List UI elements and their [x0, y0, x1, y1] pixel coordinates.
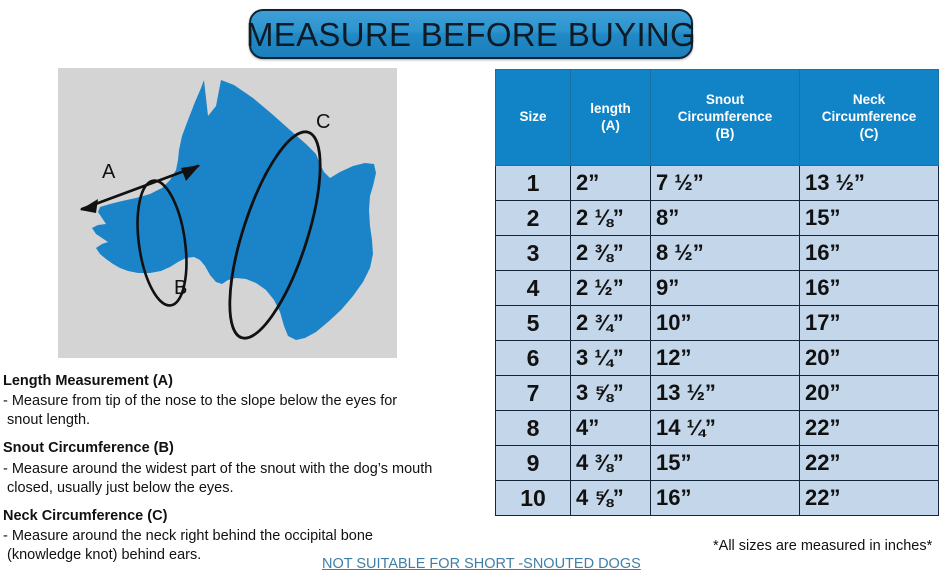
- instruction-group-snout: Snout Circumference (B) - Measure around…: [3, 439, 488, 497]
- dog-head-silhouette: [92, 80, 376, 340]
- cell-neck: 13 ½”: [800, 166, 939, 201]
- cell-neck: 16”: [800, 271, 939, 306]
- cell-size: 5: [496, 306, 571, 341]
- cell-length: 4”: [571, 411, 651, 446]
- cell-size: 10: [496, 481, 571, 516]
- dog-measurement-diagram: A B C: [58, 68, 397, 358]
- table-row: 22 ⅛”8”15”: [496, 201, 939, 236]
- units-note: *All sizes are measured in inches*: [713, 538, 932, 554]
- not-suitable-warning-link[interactable]: NOT SUITABLE FOR SHORT -SNOUTED DOGS: [322, 556, 641, 572]
- marker-c-label: C: [316, 111, 330, 133]
- cell-snout: 8”: [651, 201, 800, 236]
- cell-snout: 15”: [651, 446, 800, 481]
- cell-length: 2”: [571, 166, 651, 201]
- cell-snout: 16”: [651, 481, 800, 516]
- cell-neck: 22”: [800, 446, 939, 481]
- table-row: 12”7 ½”13 ½”: [496, 166, 939, 201]
- cell-neck: 20”: [800, 376, 939, 411]
- instruction-heading-length: Length Measurement (A): [3, 372, 488, 391]
- instruction-group-length: Length Measurement (A) - Measure from ti…: [3, 372, 488, 430]
- cell-neck: 20”: [800, 341, 939, 376]
- table-row: 52 ¾”10”17”: [496, 306, 939, 341]
- table-row: 94 ⅜”15”22”: [496, 446, 939, 481]
- cell-snout: 10”: [651, 306, 800, 341]
- cell-length: 2 ⅜”: [571, 236, 651, 271]
- cell-size: 7: [496, 376, 571, 411]
- column-header-snout: Snout Circumference (B): [651, 70, 800, 166]
- table-row: 73 ⅝”13 ½”20”: [496, 376, 939, 411]
- instructions-block: Length Measurement (A) - Measure from ti…: [3, 372, 488, 574]
- cell-length: 3 ¼”: [571, 341, 651, 376]
- cell-size: 8: [496, 411, 571, 446]
- title-banner: MEASURE BEFORE BUYING: [249, 9, 693, 59]
- cell-snout: 7 ½”: [651, 166, 800, 201]
- cell-size: 9: [496, 446, 571, 481]
- table-header-row: Size length (A) Snout Circumference (B) …: [496, 70, 939, 166]
- size-chart-table: Size length (A) Snout Circumference (B) …: [495, 69, 939, 516]
- cell-length: 2 ½”: [571, 271, 651, 306]
- cell-neck: 22”: [800, 411, 939, 446]
- cell-snout: 8 ½”: [651, 236, 800, 271]
- cell-size: 3: [496, 236, 571, 271]
- column-header-size: Size: [496, 70, 571, 166]
- table-row: 32 ⅜”8 ½”16”: [496, 236, 939, 271]
- cell-neck: 15”: [800, 201, 939, 236]
- cell-neck: 16”: [800, 236, 939, 271]
- table-row: 42 ½”9”16”: [496, 271, 939, 306]
- cell-length: 2 ⅛”: [571, 201, 651, 236]
- marker-a-label: A: [102, 161, 116, 183]
- instruction-body-snout: - Measure around the widest part of the …: [3, 460, 488, 498]
- cell-snout: 9”: [651, 271, 800, 306]
- table-row: 63 ¼”12”20”: [496, 341, 939, 376]
- table-row: 84”14 ¼”22”: [496, 411, 939, 446]
- cell-length: 2 ¾”: [571, 306, 651, 341]
- table-row: 104 ⅝”16”22”: [496, 481, 939, 516]
- cell-length: 4 ⅜”: [571, 446, 651, 481]
- cell-snout: 14 ¼”: [651, 411, 800, 446]
- cell-neck: 17”: [800, 306, 939, 341]
- instruction-heading-neck: Neck Circumference (C): [3, 507, 488, 526]
- cell-snout: 13 ½”: [651, 376, 800, 411]
- cell-neck: 22”: [800, 481, 939, 516]
- cell-size: 2: [496, 201, 571, 236]
- marker-a-arrowhead-left: [80, 199, 98, 213]
- dog-diagram-svg: A B C: [58, 68, 397, 358]
- page-title: MEASURE BEFORE BUYING: [246, 18, 696, 51]
- instruction-heading-snout: Snout Circumference (B): [3, 439, 488, 458]
- column-header-neck: Neck Circumference (C): [800, 70, 939, 166]
- cell-length: 3 ⅝”: [571, 376, 651, 411]
- column-header-length: length (A): [571, 70, 651, 166]
- marker-b-label: B: [174, 277, 187, 299]
- cell-length: 4 ⅝”: [571, 481, 651, 516]
- cell-size: 6: [496, 341, 571, 376]
- cell-size: 1: [496, 166, 571, 201]
- cell-size: 4: [496, 271, 571, 306]
- cell-snout: 12”: [651, 341, 800, 376]
- instruction-body-length: - Measure from tip of the nose to the sl…: [3, 392, 488, 430]
